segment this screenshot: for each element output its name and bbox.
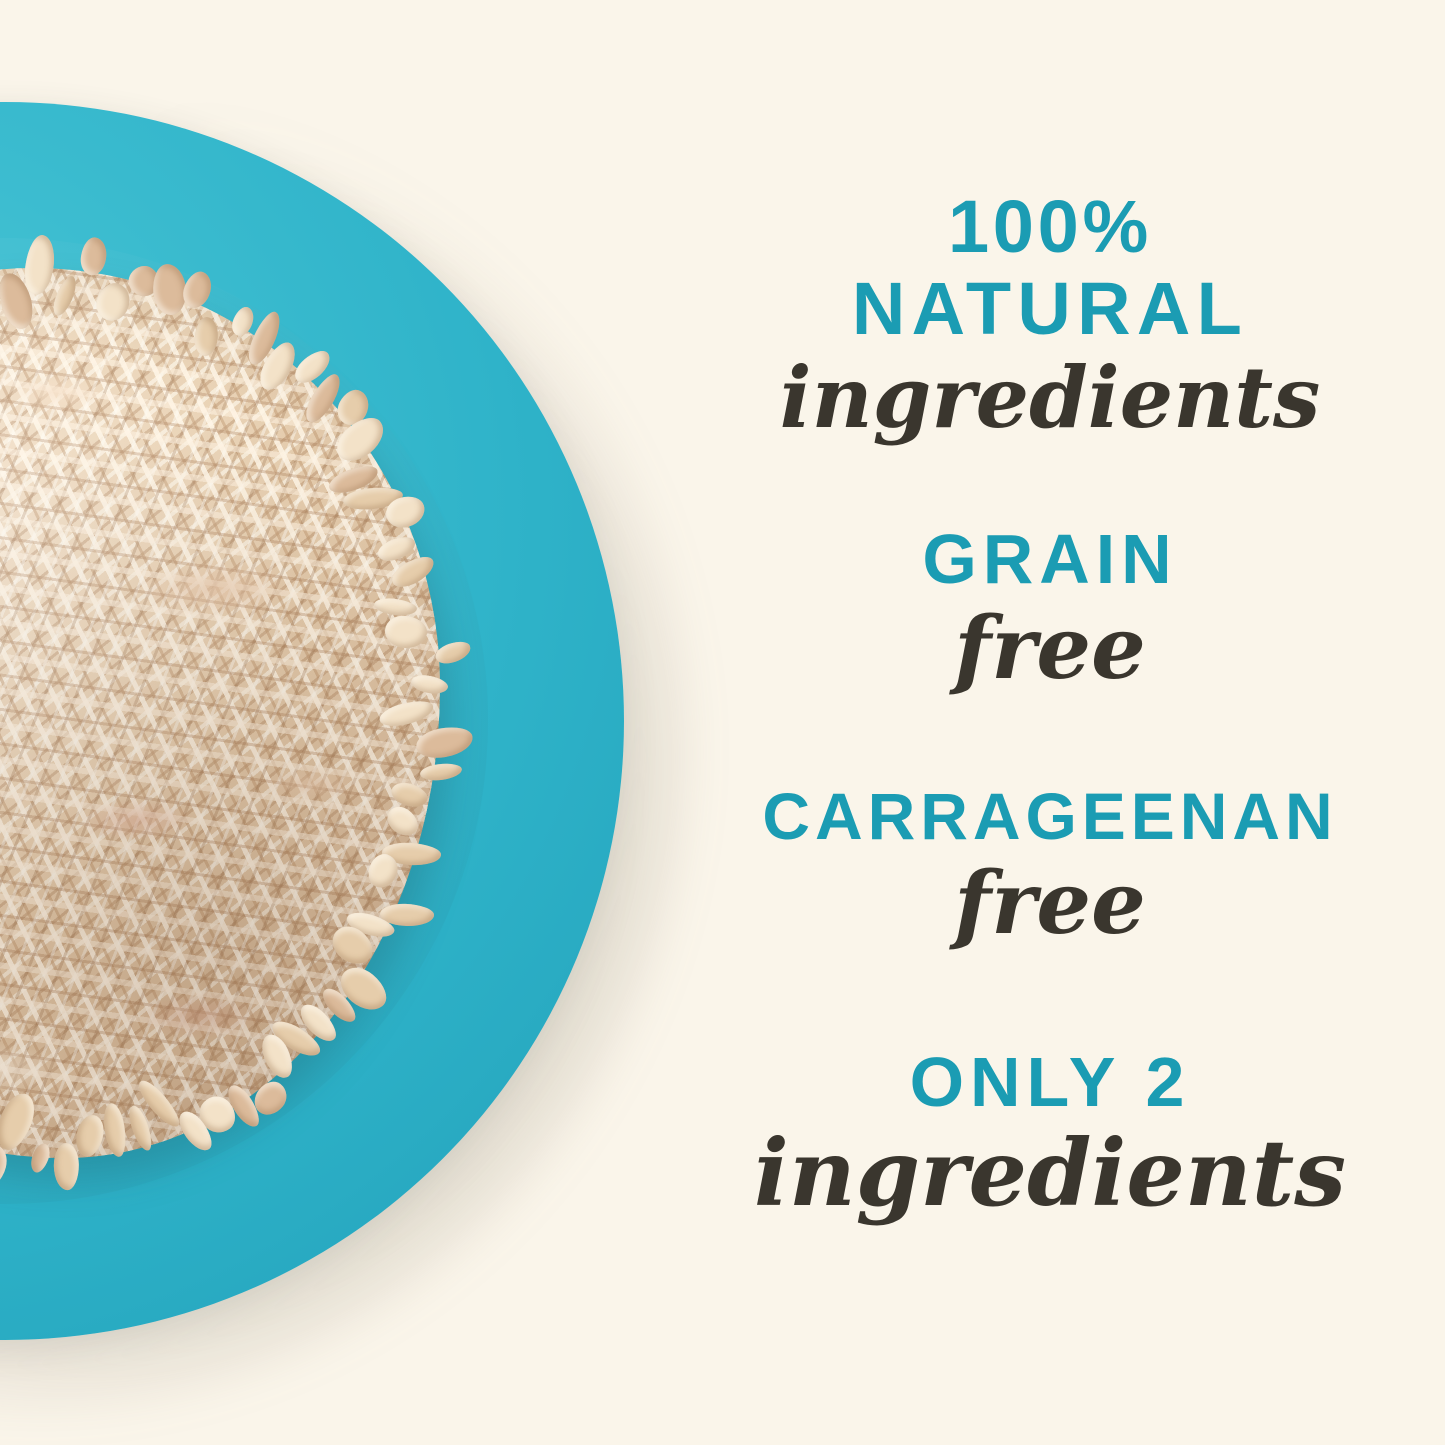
- claim-carrageenan-free-script: free: [655, 861, 1445, 947]
- claim-carrageenan-free: CARRAGEENAN free: [655, 783, 1445, 947]
- claim-carrageenan-free-cap: CARRAGEENAN: [655, 783, 1445, 849]
- claim-only-2-ingredients-cap: ONLY 2: [655, 1047, 1445, 1117]
- claim-natural-cap-line-2: NATURAL: [655, 272, 1445, 346]
- claim-natural: 100% NATURAL ingredients: [655, 190, 1445, 440]
- claims-column: 100% NATURAL ingredients GRAIN free CARR…: [655, 0, 1445, 1445]
- claim-natural-cap-line-1: 100%: [655, 190, 1445, 264]
- shredded-tuna-mound: [0, 268, 440, 1158]
- claim-only-2-ingredients: ONLY 2 ingredients: [655, 1047, 1445, 1219]
- claim-grain-free-cap: GRAIN: [655, 524, 1445, 594]
- claim-grain-free-script: free: [655, 606, 1445, 692]
- claim-natural-script: ingredients: [655, 356, 1445, 440]
- food-body: [0, 268, 440, 1158]
- product-feature-graphic: 100% NATURAL ingredients GRAIN free CARR…: [0, 0, 1445, 1445]
- claim-grain-free: GRAIN free: [655, 524, 1445, 692]
- claim-only-2-ingredients-script: ingredients: [655, 1127, 1445, 1219]
- food-shading: [0, 268, 440, 1158]
